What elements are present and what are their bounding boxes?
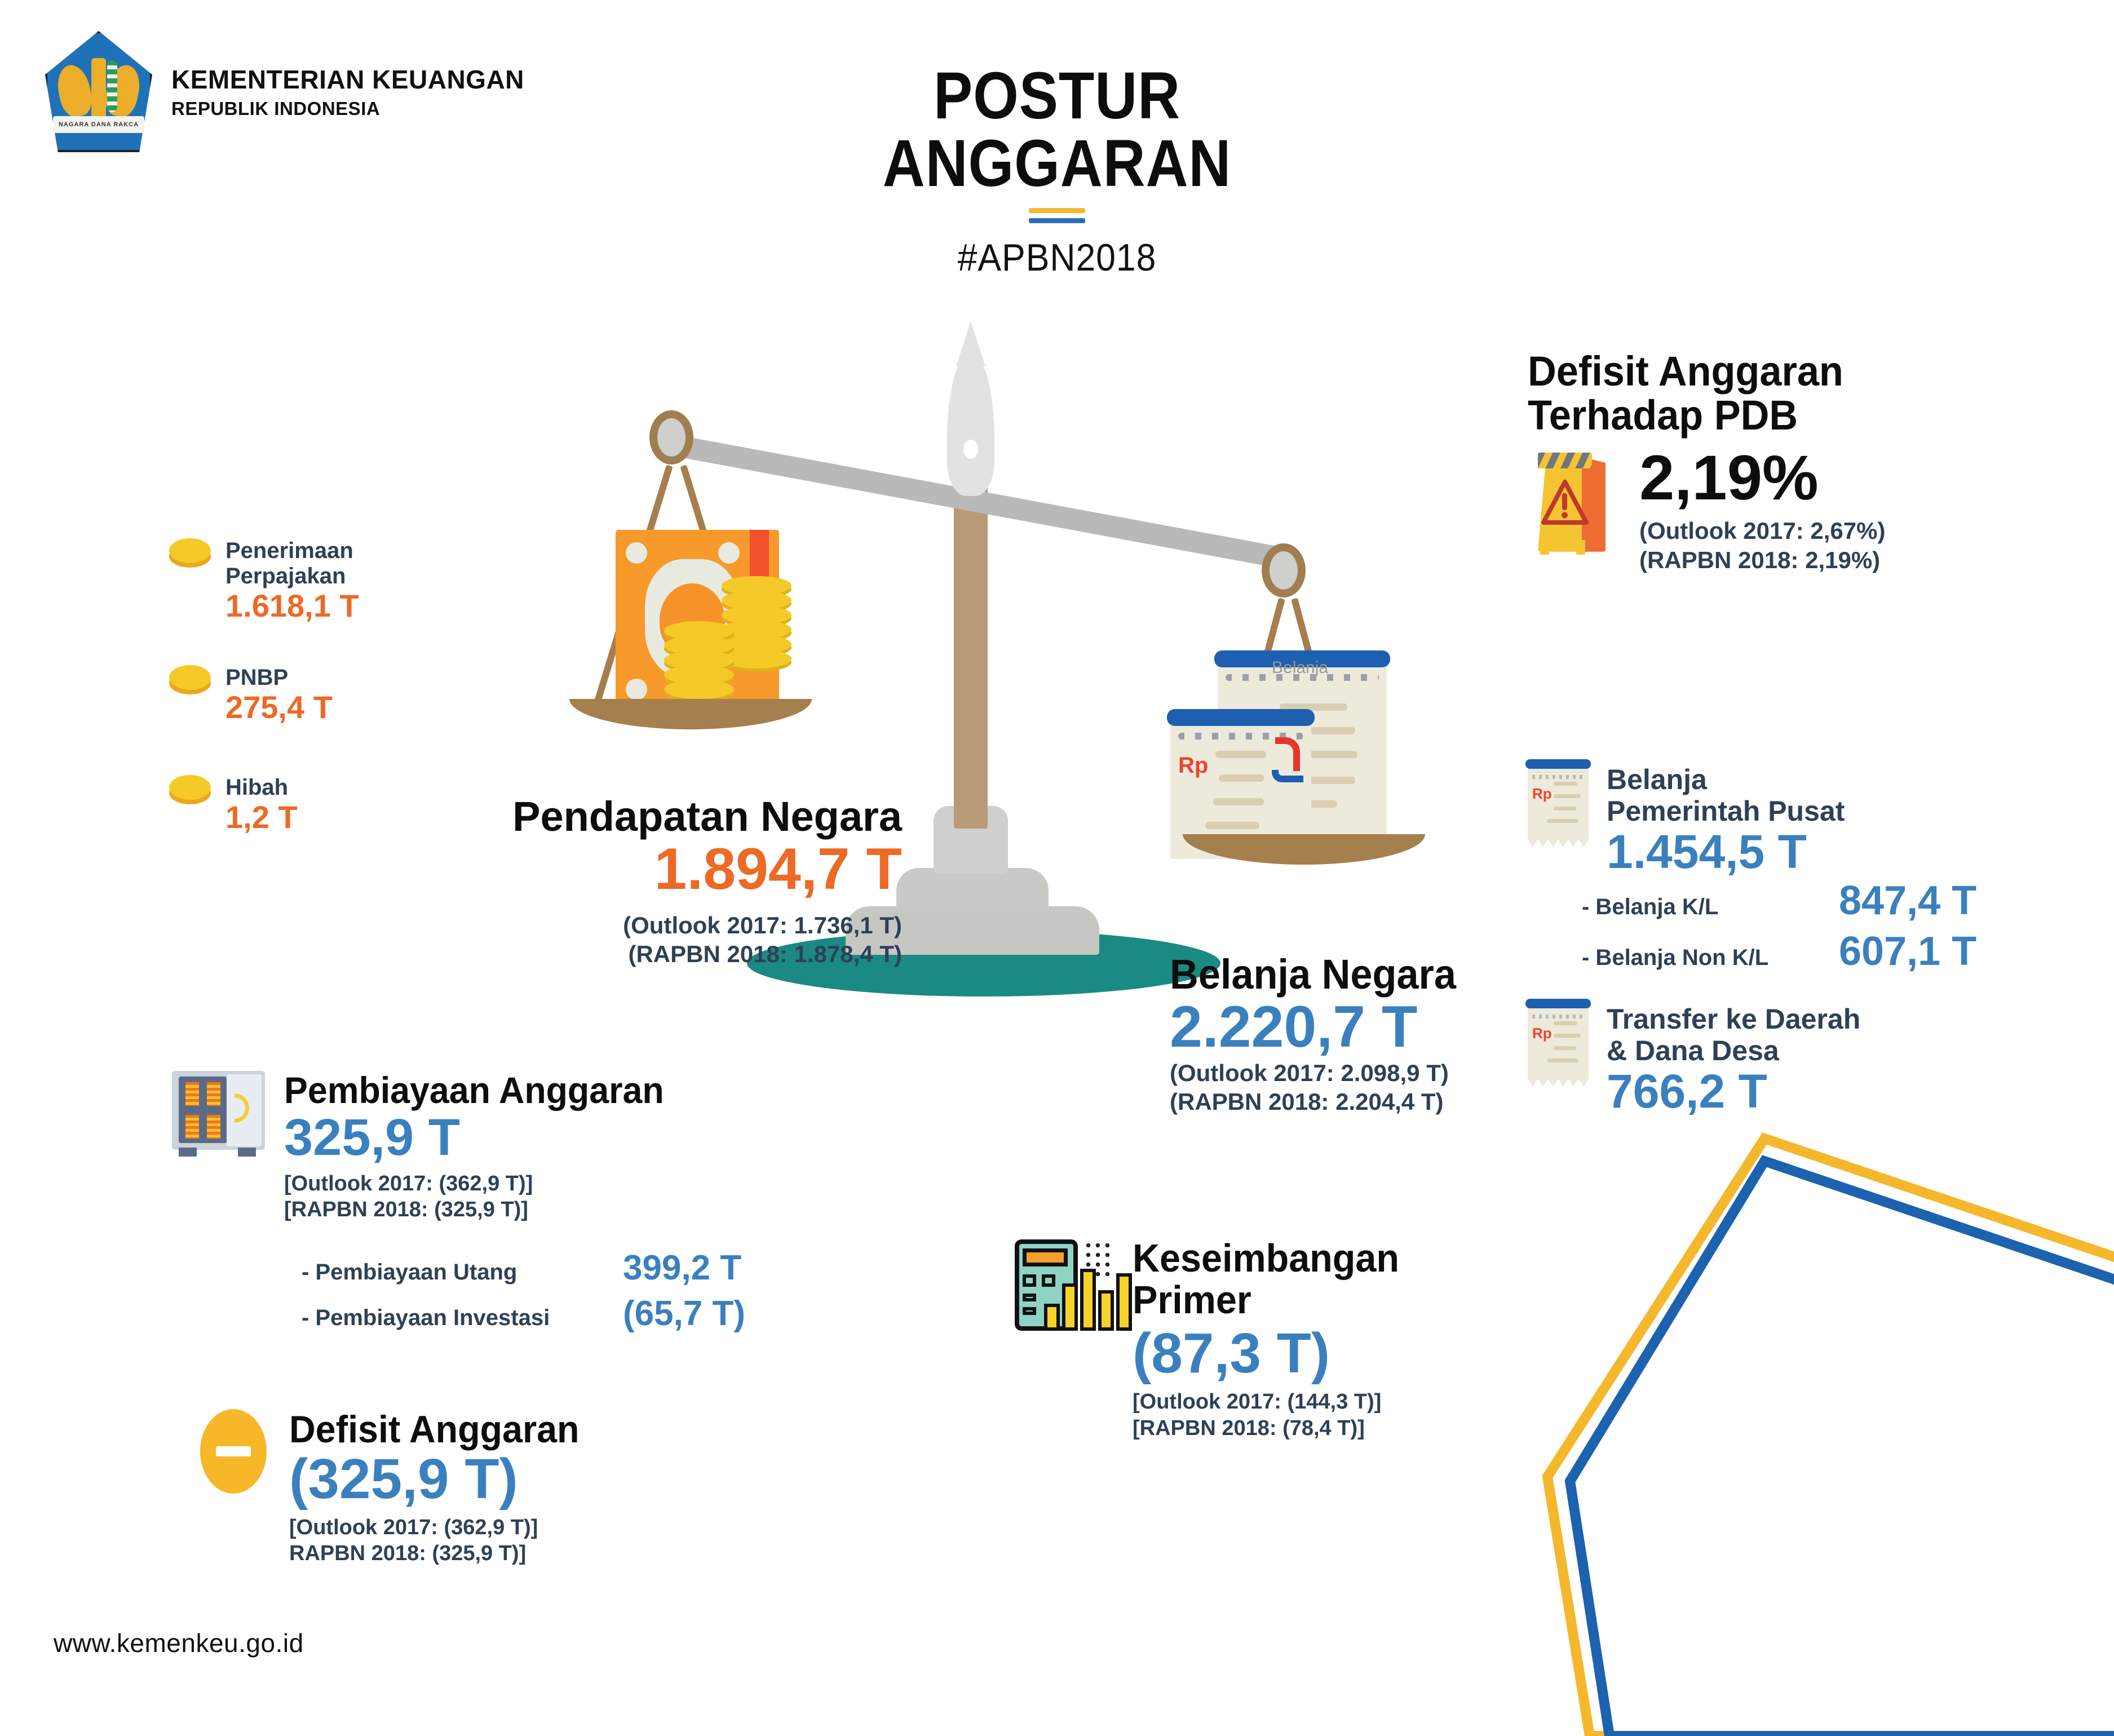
pembiayaan-block: Pembiayaan Anggaran 325,9 T [Outlook 201… <box>172 1071 745 1332</box>
keseimbangan-note-outlook: [Outlook 2017: (144,3 T)] <box>1133 1389 1413 1415</box>
transfer-title-line1: Transfer ke Daerah <box>1607 1003 1860 1035</box>
revenue-item-pnbp: PNBP 275,4 T <box>169 665 333 724</box>
warning-triangle-icon <box>1541 479 1589 527</box>
belanja-title: Belanja Negara <box>1170 953 1456 997</box>
pembiayaan-utang-label: - Pembiayaan Utang <box>302 1260 606 1285</box>
notebook-label: Belanja <box>1272 658 1328 677</box>
title-divider <box>1029 208 1085 223</box>
scale-pan-right <box>1183 834 1425 865</box>
scale-hook-right <box>1262 543 1306 597</box>
pembiayaan-investasi-label: - Pembiayaan Investasi <box>302 1305 606 1331</box>
keseimbangan-title-line2: Primer <box>1133 1279 1399 1321</box>
keseimbangan-title-line1: Keseimbangan <box>1133 1237 1399 1279</box>
belanja-negara-block: Belanja Negara 2.220,7 T (Outlook 2017: … <box>1170 953 1471 1116</box>
receipt-currency-label: Rp <box>1178 753 1208 778</box>
belanja-pusat-title-line2: Pemerintah Pusat <box>1607 795 1845 827</box>
keseimbangan-value: (87,3 T) <box>1133 1324 1413 1383</box>
scale-pan-left <box>569 699 812 729</box>
pendapatan-negara-block: Pendapatan Negara 1.894,7 T (Outlook 201… <box>496 795 902 968</box>
pembiayaan-note-rapbn: [RAPBN 2018: (325,9 T)] <box>284 1197 684 1223</box>
defisit-pdb-note-rapbn: (RAPBN 2018: 2,19%) <box>1639 546 1885 574</box>
defisit-pdb-block: Defisit Anggaran Terhadap PDB 2,19% (Out… <box>1528 349 2080 574</box>
scale-column <box>954 479 988 829</box>
page-title: POSTUR ANGGARAN #APBN2018 <box>0 62 2114 280</box>
coin-stack-short <box>664 626 734 699</box>
pembiayaan-note-outlook: [Outlook 2017: (362,9 T)] <box>284 1171 684 1197</box>
divider-blue <box>1029 218 1085 223</box>
defisit-pdb-note-outlook: (Outlook 2017: 2,67%) <box>1639 516 1885 545</box>
transfer-title-line2: & Dana Desa <box>1607 1035 1860 1066</box>
revenue-item-hibah: Hibah 1,2 T <box>169 775 298 834</box>
scale-finial <box>947 355 994 496</box>
belanja-note-rapbn: (RAPBN 2018: 2.204,4 T) <box>1170 1087 1471 1116</box>
coin-icon <box>169 775 211 804</box>
pendapatan-note-rapbn: (RAPBN 2018: 1.878,4 T) <box>496 940 902 968</box>
pendapatan-title: Pendapatan Negara <box>496 795 902 839</box>
pembiayaan-investasi-value: (65,7 T) <box>623 1295 745 1332</box>
belanja-pusat-block: Rp Belanja Pemerintah Pusat 1.454,5 T - … <box>1528 764 1976 973</box>
belanja-kl-label: - Belanja K/L <box>1582 894 1819 920</box>
revenue-value: 275,4 T <box>225 690 333 724</box>
pentagon-decoration <box>1516 1105 2114 1736</box>
defisit-pdb-title-line1: Defisit Anggaran <box>1528 349 2053 393</box>
pendapatan-note-outlook: (Outlook 2017: 1.736,1 T) <box>496 911 902 940</box>
transfer-daerah-block: Rp Transfer ke Daerah & Dana Desa 766,2 … <box>1528 1003 1860 1116</box>
vault-icon <box>172 1071 265 1150</box>
hashtag: #APBN2018 <box>85 236 2029 280</box>
keseimbangan-primer-block: Keseimbangan Primer (87,3 T) [Outlook 20… <box>1015 1237 1413 1441</box>
belanja-value: 2.220,7 T <box>1170 997 1471 1058</box>
pembiayaan-title: Pembiayaan Anggaran <box>284 1071 664 1110</box>
revenue-label: Penerimaan Perpajakan <box>225 538 359 589</box>
website-url[interactable]: www.kemenkeu.go.id <box>54 1628 304 1658</box>
receipt-icon: Rp <box>1528 1003 1589 1079</box>
title-line1: POSTUR <box>127 62 1987 130</box>
calculator-icon <box>1015 1237 1113 1333</box>
keseimbangan-note-rapbn: [RAPBN 2018: (78,4 T)] <box>1133 1415 1413 1441</box>
belanja-pusat-title-line1: Belanja <box>1607 764 1845 795</box>
pembiayaan-value: 325,9 T <box>284 1110 684 1165</box>
revenue-label: PNBP <box>225 665 333 690</box>
belanja-kl-value: 847,4 T <box>1839 880 1976 923</box>
revenue-value: 1.618,1 T <box>225 589 359 623</box>
defisit-anggaran-title: Defisit Anggaran <box>289 1409 579 1450</box>
pembiayaan-utang-value: 399,2 T <box>623 1250 741 1286</box>
defisit-anggaran-note-outlook: [Outlook 2017: (362,9 T)] <box>289 1514 595 1540</box>
defisit-anggaran-note-rapbn: RAPBN 2018: (325,9 T)] <box>289 1540 595 1566</box>
title-line2: ANGGARAN <box>127 130 1987 197</box>
defisit-pdb-value: 2,19% <box>1639 445 1885 511</box>
coin-icon <box>169 538 211 568</box>
belanja-note-outlook: (Outlook 2017: 2.098,9 T) <box>1170 1059 1471 1087</box>
revenue-value: 1,2 T <box>225 800 298 834</box>
scale-hook-left <box>649 410 693 464</box>
belanja-pusat-value: 1.454,5 T <box>1607 827 1845 876</box>
scale-base-upper <box>896 868 1049 912</box>
warning-sign-icon <box>1528 445 1618 555</box>
belanja-nonkl-label: - Belanja Non K/L <box>1582 945 1819 971</box>
coin-icon <box>169 665 211 694</box>
minus-circle-icon <box>200 1409 267 1494</box>
revenue-label: Hibah <box>225 775 298 800</box>
pendapatan-value: 1.894,7 T <box>496 839 902 900</box>
belanja-nonkl-value: 607,1 T <box>1839 931 1976 973</box>
defisit-anggaran-value: (325,9 T) <box>289 1450 595 1509</box>
infographic-canvas: NAGARA DANA RAKCA KEMENTERIAN KEUANGAN R… <box>0 0 2114 1691</box>
defisit-pdb-title-line2: Terhadap PDB <box>1528 393 2053 437</box>
defisit-anggaran-block: Defisit Anggaran (325,9 T) [Outlook 2017… <box>200 1409 595 1567</box>
receipt-icon: Rp <box>1528 764 1589 840</box>
revenue-item-perpajakan: Penerimaan Perpajakan 1.618,1 T <box>169 538 359 623</box>
divider-yellow <box>1029 208 1085 213</box>
